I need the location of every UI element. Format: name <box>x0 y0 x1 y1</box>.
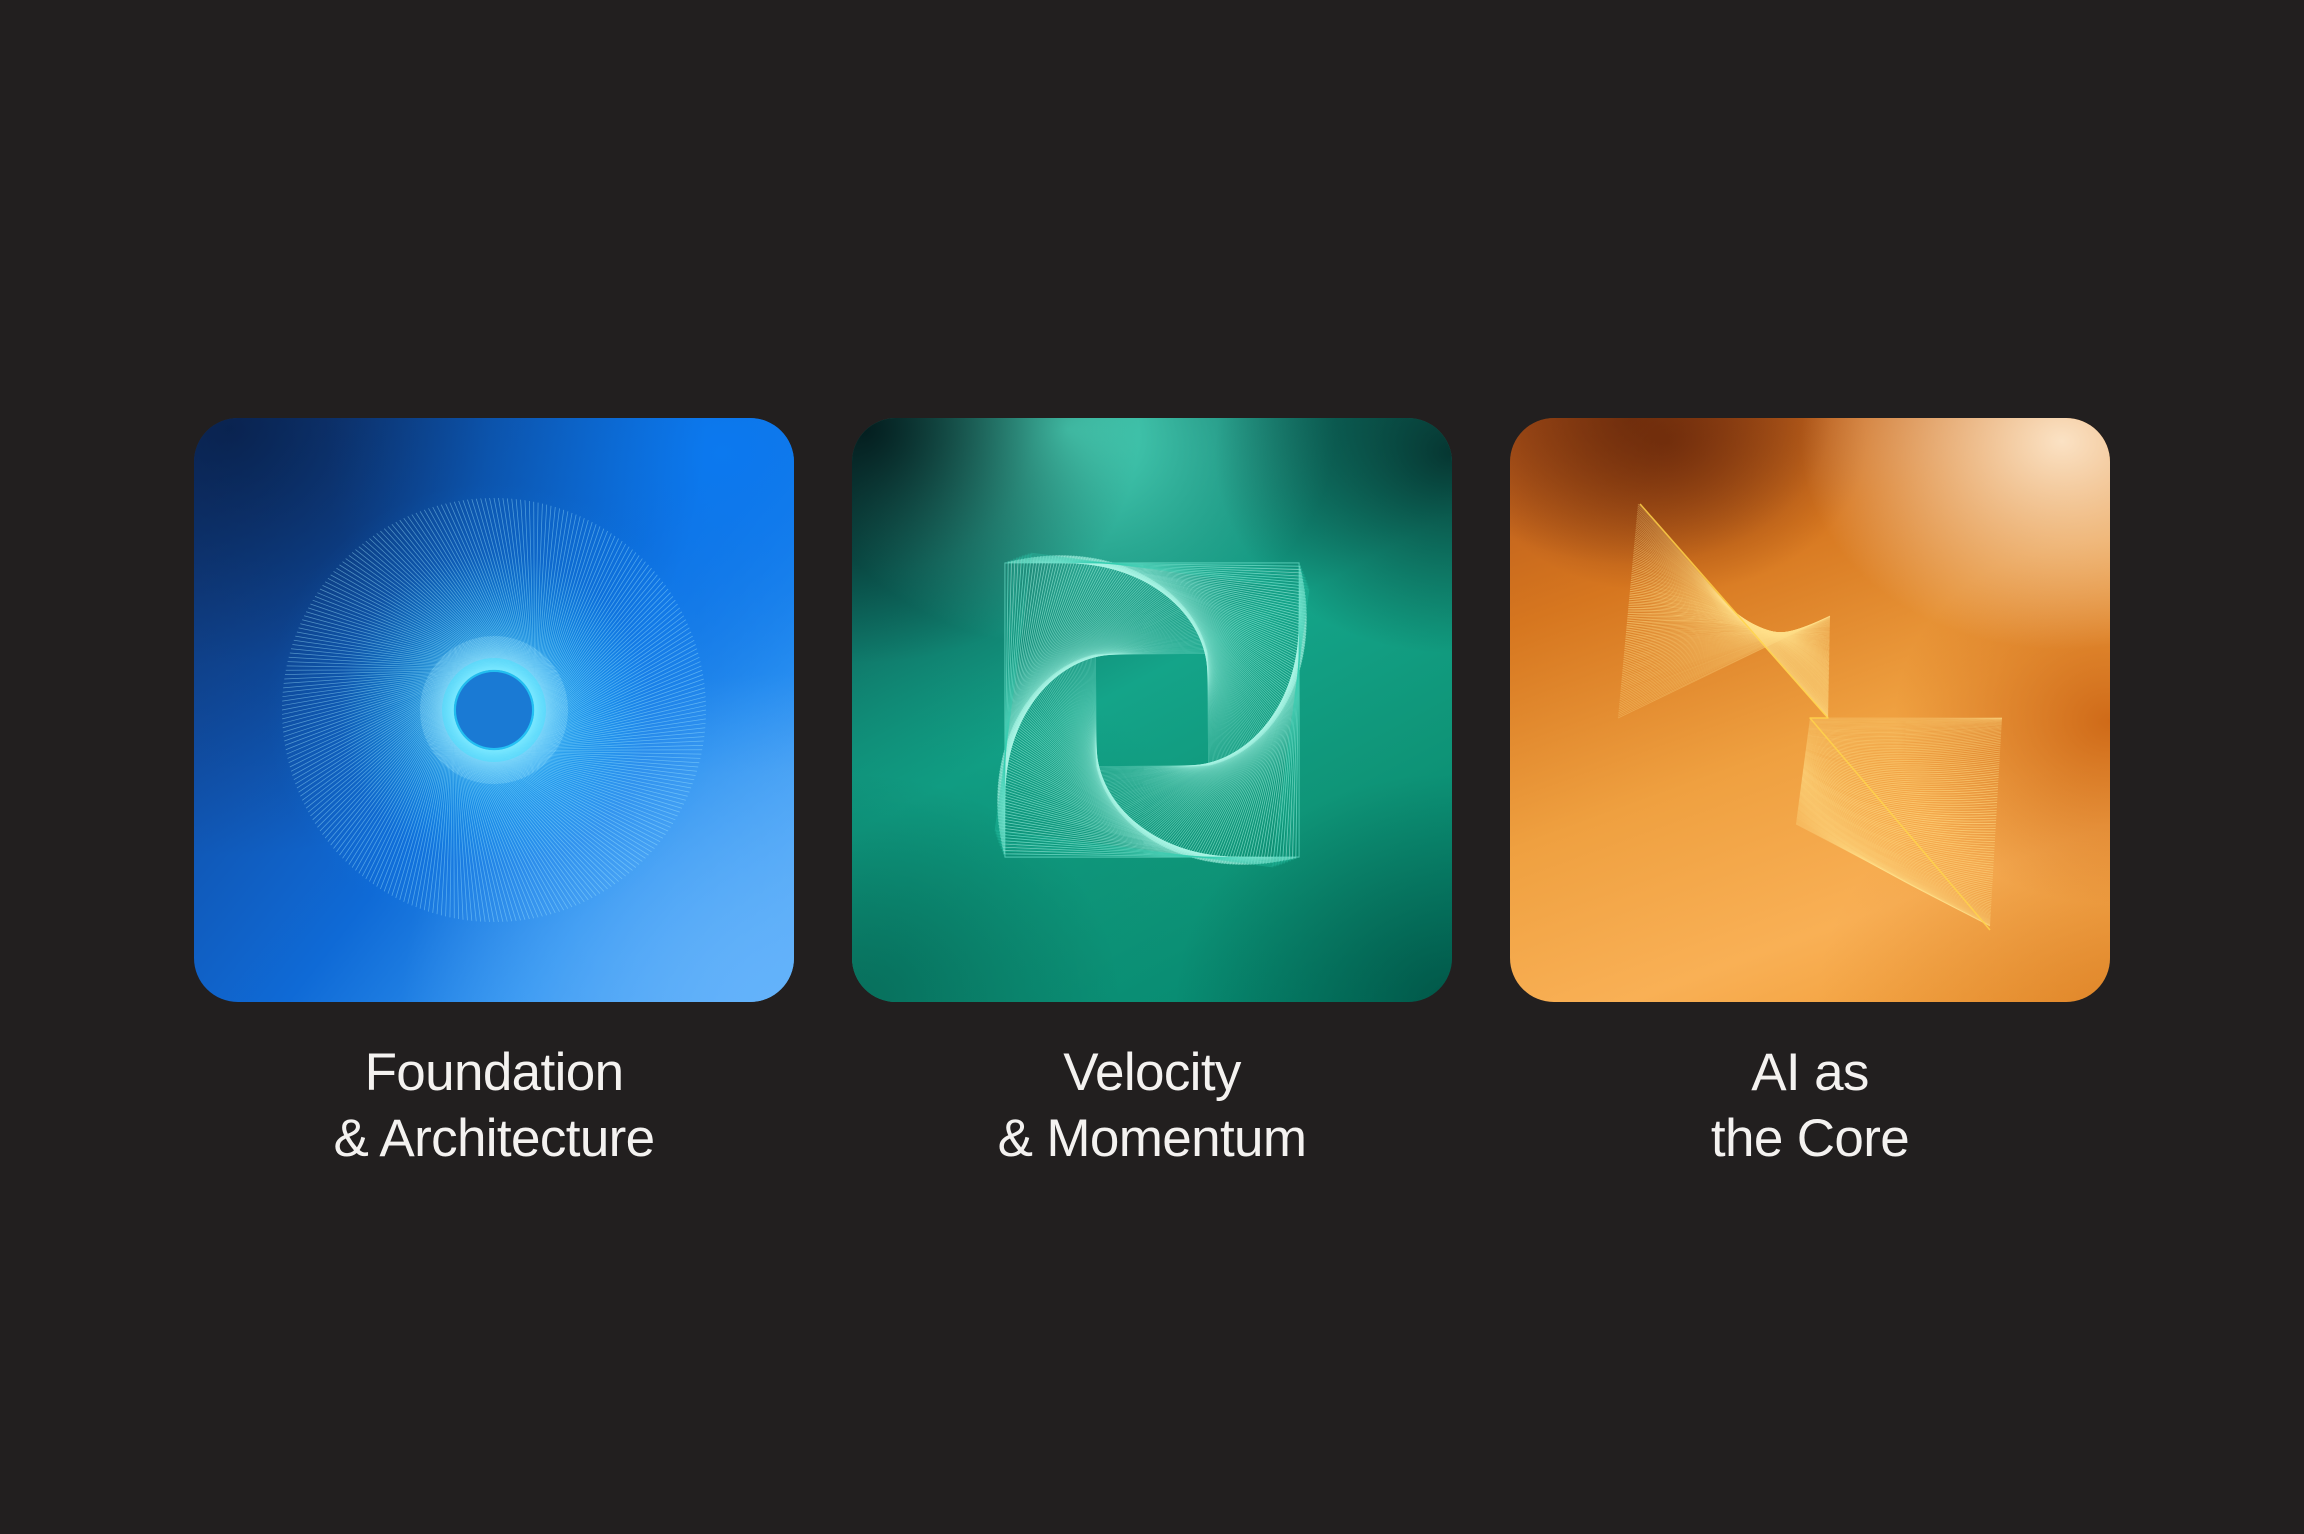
pillar-label-ai-as-the-core: AI as the Core <box>1510 1040 2110 1171</box>
pillar-art-tile-blue[interactable] <box>194 418 794 1002</box>
pillar-card-velocity-momentum[interactable]: Velocity & Momentum <box>852 418 1452 1171</box>
pillar-art-tile-orange[interactable] <box>1510 418 2110 1002</box>
pillar-art-tile-green[interactable] <box>852 418 1452 1002</box>
pillar-label-velocity-momentum: Velocity & Momentum <box>852 1040 1452 1171</box>
double-swoosh-bolt-icon <box>1510 418 2110 1002</box>
slide-canvas: Foundation & Architecture Velocity & Mom… <box>0 0 2304 1534</box>
radial-burst-circle-icon <box>194 418 794 1002</box>
pillar-card-ai-as-the-core[interactable]: AI as the Core <box>1510 418 2110 1171</box>
rotating-square-pinwheel-icon <box>852 418 1452 1002</box>
pillar-card-foundation-architecture[interactable]: Foundation & Architecture <box>194 418 794 1171</box>
pillar-label-foundation-architecture: Foundation & Architecture <box>194 1040 794 1171</box>
pillar-row: Foundation & Architecture Velocity & Mom… <box>0 0 2304 1534</box>
